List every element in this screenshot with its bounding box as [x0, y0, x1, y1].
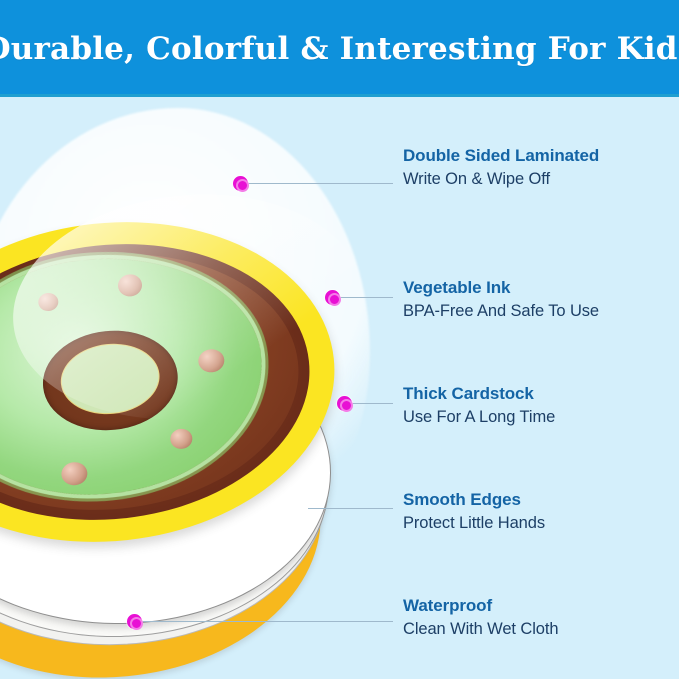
header-divider [0, 94, 679, 97]
feature-title-waterproof: Waterproof [403, 595, 558, 616]
feature-subtitle-double-sided-laminated: Write On & Wipe Off [403, 168, 599, 190]
leader-line-waterproof [140, 621, 393, 622]
product-illustration [0, 195, 365, 615]
feature-title-thick-cardstock: Thick Cardstock [403, 383, 555, 404]
leader-line-vegetable-ink [338, 297, 393, 298]
feature-subtitle-thick-cardstock: Use For A Long Time [403, 406, 555, 428]
feature-marker-dot-waterproof[interactable] [127, 614, 142, 629]
feature-title-smooth-edges: Smooth Edges [403, 489, 545, 510]
feature-callout-double-sided-laminated: Double Sided LaminatedWrite On & Wipe Of… [403, 145, 599, 190]
feature-title-vegetable-ink: Vegetable Ink [403, 277, 599, 298]
feature-callout-smooth-edges: Smooth EdgesProtect Little Hands [403, 489, 545, 534]
feature-marker-dot-vegetable-ink[interactable] [325, 290, 340, 305]
leader-line-double-sided-laminated [248, 183, 393, 184]
feature-marker-dot-double-sided-laminated[interactable] [233, 176, 248, 191]
leader-line-thick-cardstock [350, 403, 393, 404]
feature-callout-vegetable-ink: Vegetable InkBPA-Free And Safe To Use [403, 277, 599, 322]
feature-subtitle-smooth-edges: Protect Little Hands [403, 512, 545, 534]
leader-line-smooth-edges [308, 508, 393, 509]
feature-marker-dot-thick-cardstock[interactable] [337, 396, 352, 411]
feature-title-double-sided-laminated: Double Sided Laminated [403, 145, 599, 166]
feature-callout-thick-cardstock: Thick CardstockUse For A Long Time [403, 383, 555, 428]
feature-subtitle-vegetable-ink: BPA-Free And Safe To Use [403, 300, 599, 322]
infographic-canvas: Durable, Colorful & Interesting For Kids [0, 0, 679, 679]
page-title: Durable, Colorful & Interesting For Kids [0, 31, 679, 67]
feature-subtitle-waterproof: Clean With Wet Cloth [403, 618, 558, 640]
header-banner: Durable, Colorful & Interesting For Kids [0, 0, 679, 97]
feature-callout-waterproof: WaterproofClean With Wet Cloth [403, 595, 558, 640]
